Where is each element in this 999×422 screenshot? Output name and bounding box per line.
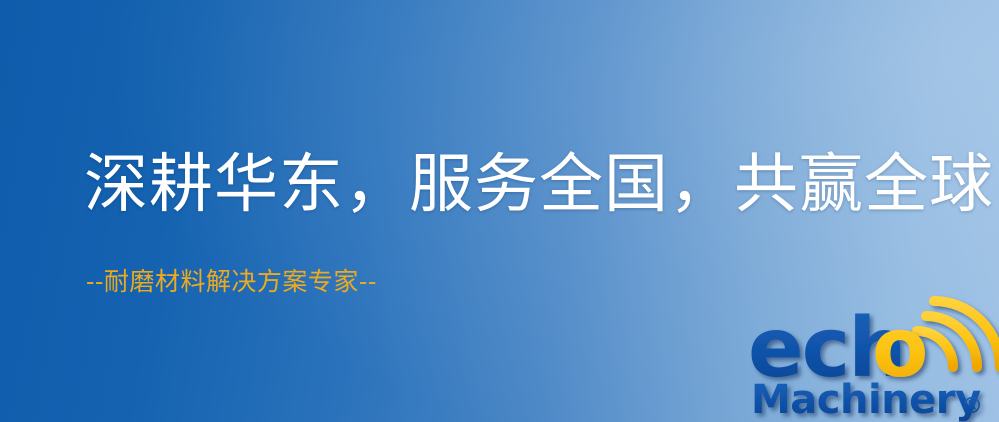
- signal-waves-icon: [917, 301, 999, 367]
- logo-registered-mark: ®: [961, 394, 983, 419]
- logo-tagline: Machinery: [751, 377, 981, 422]
- promo-banner: 深耕华东，服务全国，共赢全球 --耐磨材料解决方案专家--: [0, 0, 999, 422]
- banner-headline: 深耕华东，服务全国，共赢全球: [84, 151, 944, 220]
- echo-machinery-logo[interactable]: ech o Machinery ®: [748, 292, 999, 422]
- banner-subtitle: --耐磨材料解决方案专家--: [86, 268, 377, 296]
